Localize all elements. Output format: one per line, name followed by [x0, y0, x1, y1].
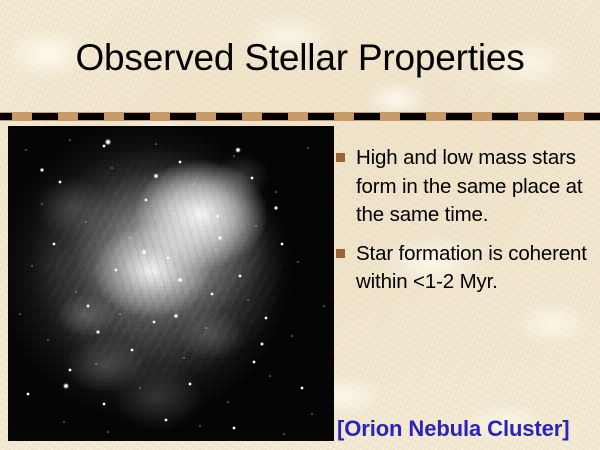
list-item: High and low mass stars form in the same… [336, 144, 594, 230]
nebula-gas-layer [8, 126, 334, 441]
nebula-filaments [8, 126, 334, 441]
title-divider-dashes [0, 113, 600, 120]
square-bullet-icon [336, 153, 345, 162]
title-divider-rule [0, 112, 600, 121]
page-title: Observed Stellar Properties [0, 36, 600, 80]
nebula-image [8, 126, 334, 441]
bullet-list: High and low mass stars form in the same… [336, 144, 594, 307]
nebula-stars-medium [8, 126, 334, 441]
image-caption: [Orion Nebula Cluster] [337, 415, 570, 443]
bullet-text: High and low mass stars form in the same… [356, 144, 594, 230]
nebula-stars-faint [8, 126, 334, 441]
square-bullet-icon [336, 249, 345, 258]
bullet-text: Star formation is coherent within <1-2 M… [356, 240, 594, 297]
slide-canvas: Observed Stellar Properties High and low… [0, 0, 600, 450]
nebula-stars-bright [8, 126, 334, 441]
list-item: Star formation is coherent within <1-2 M… [336, 240, 594, 297]
nebula-pixel-grain [8, 126, 334, 441]
